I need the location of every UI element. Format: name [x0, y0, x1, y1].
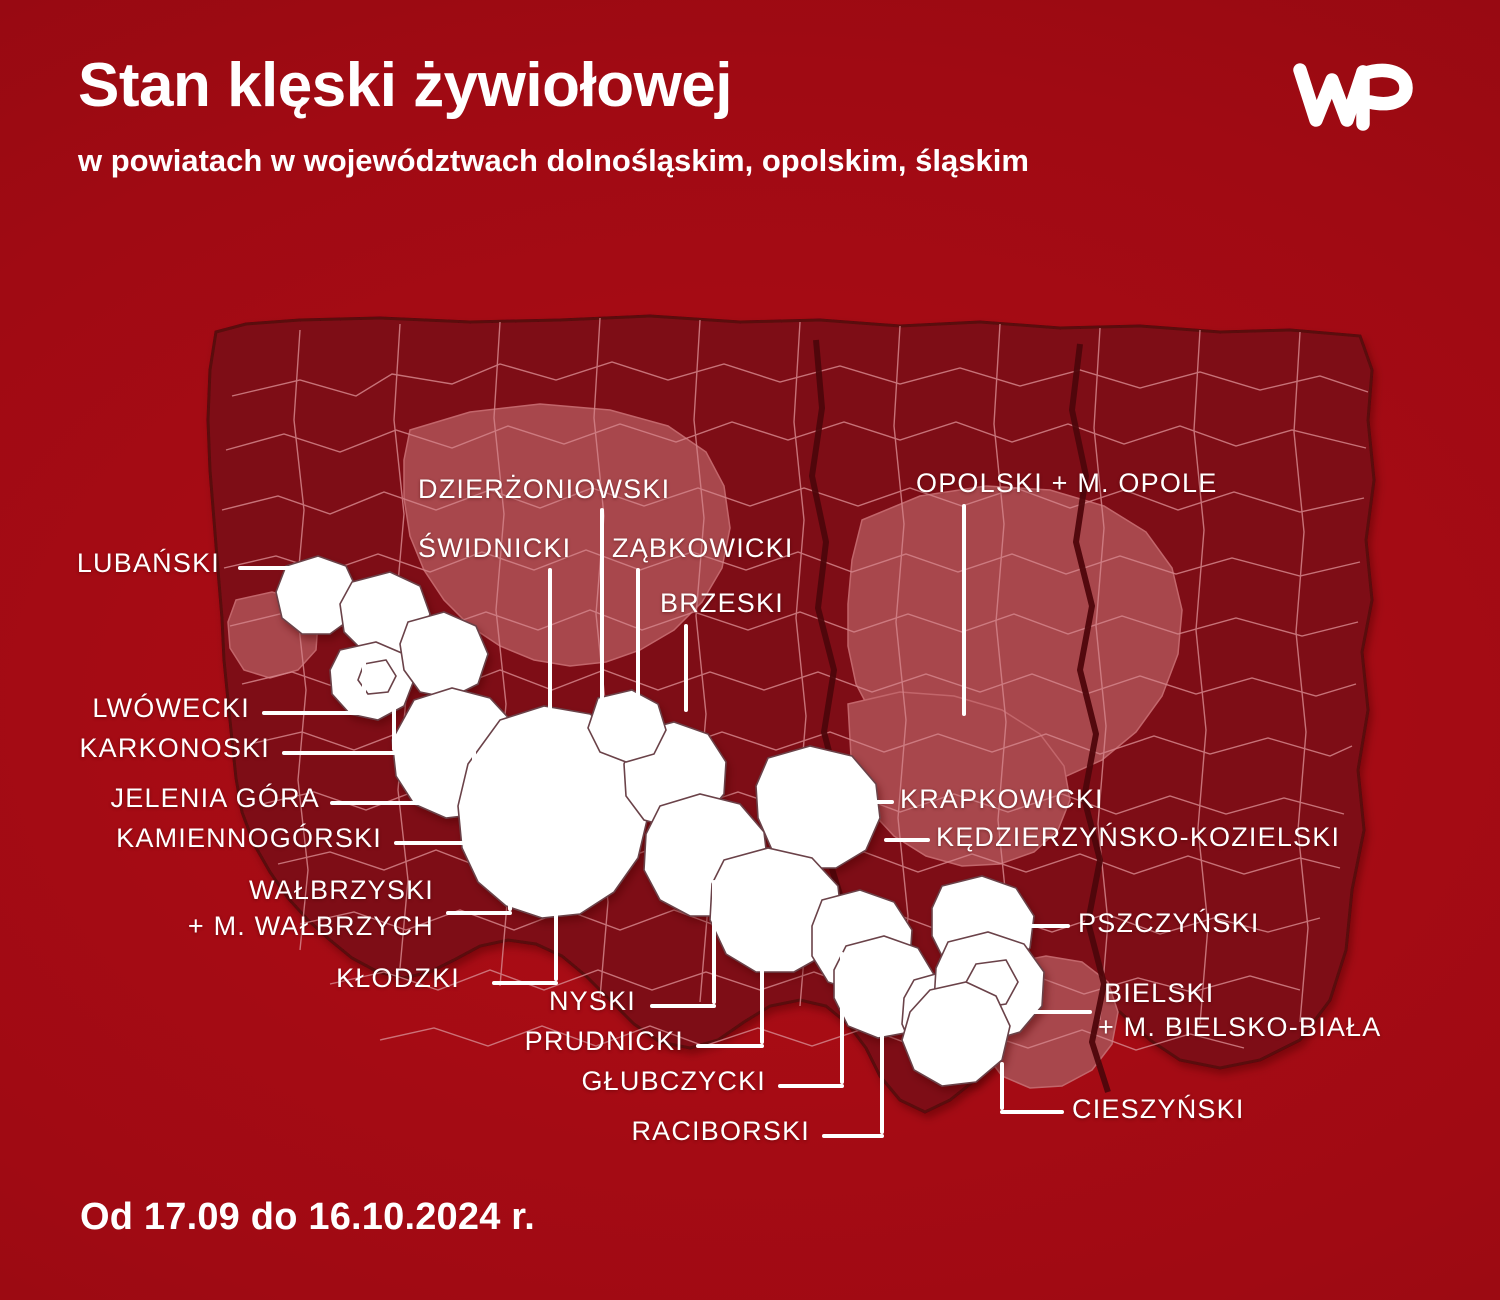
label-krapkowicki: KRAPKOWICKI — [900, 784, 1104, 815]
label-dzierzoniowski: DZIERŻONIOWSKI — [418, 474, 670, 505]
label-bielski-line2: + M. BIELSKO-BIAŁA — [1098, 1012, 1381, 1043]
leader-cieszynski-h — [1000, 1110, 1064, 1114]
leader-pszczynski-h — [1004, 924, 1070, 928]
leader-prudnicki-v — [760, 916, 764, 1044]
leader-jelenia-v — [438, 726, 442, 801]
leader-raciborski-h — [822, 1134, 884, 1138]
leader-cieszynski-v — [1000, 1062, 1004, 1110]
wp-logo — [1290, 58, 1414, 132]
leader-jelenia-h — [330, 801, 442, 805]
label-zabkowicki: ZĄBKOWICKI — [612, 533, 794, 564]
infographic-root: Stan klęski żywiołowej w powiatach w woj… — [0, 0, 1500, 1300]
label-kamiennogorski: KAMIENNOGÓRSKI — [20, 823, 382, 854]
label-opolski: OPOLSKI + M. OPOLE — [916, 468, 1217, 499]
leader-karkonoski-v — [392, 700, 396, 751]
leader-nyski-h — [650, 1004, 716, 1008]
leader-glubczycki-v — [840, 952, 844, 1084]
leader-lwowecki-v — [362, 648, 366, 711]
leader-nyski-v — [712, 880, 716, 1004]
leader-lwowecki-h — [262, 711, 366, 715]
leader-glubczycki-h — [778, 1084, 844, 1088]
date-range: Od 17.09 do 16.10.2024 r. — [80, 1196, 535, 1239]
label-prudnicki: PRUDNICKI — [20, 1026, 684, 1057]
label-brzeski: BRZESKI — [660, 588, 784, 619]
leader-prudnicki-h — [696, 1044, 764, 1048]
label-glubczycki: GŁUBCZYCKI — [20, 1066, 766, 1097]
label-lubanski: LUBAŃSKI — [20, 548, 220, 579]
label-karkonoski: KARKONOSKI — [20, 733, 270, 764]
label-cieszynski: CIESZYŃSKI — [1072, 1094, 1245, 1125]
leader-karkonoski-h — [282, 751, 396, 755]
label-jelenia-gora: JELENIA GÓRA — [20, 783, 320, 814]
leader-kedzierzynsko-h — [884, 838, 930, 842]
label-kedzierzynsko-kozielski: KĘDZIERZYŃSKO-KOZIELSKI — [936, 822, 1340, 853]
leader-krapkowicki-h — [846, 800, 894, 804]
leader-walbrzyski-v — [508, 806, 512, 911]
label-nyski: NYSKI — [20, 986, 636, 1017]
leader-brzeski-v — [684, 624, 688, 712]
leader-zabkowicki-v — [636, 568, 640, 726]
label-pszczynski: PSZCZYŃSKI — [1078, 908, 1260, 939]
leader-swidnicki-v — [548, 568, 552, 720]
leader-kamiennogorski-v — [472, 742, 476, 841]
label-raciborski: RACIBORSKI — [20, 1116, 810, 1147]
label-swidnicki: ŚWIDNICKI — [418, 533, 571, 564]
leader-raciborski-v — [880, 1012, 884, 1134]
label-lwowecki: LWÓWECKI — [20, 693, 250, 724]
header: Stan klęski żywiołowej w powiatach w woj… — [78, 54, 1258, 181]
leader-klodzki-v — [554, 852, 558, 981]
leader-klodzki-h — [492, 981, 558, 985]
label-walbrzyski-line1: WAŁBRZYSKI — [20, 875, 434, 906]
leader-walbrzyski-h — [446, 911, 512, 915]
leader-lubanski-v — [334, 566, 338, 600]
leader-bielski-h — [1014, 1010, 1092, 1014]
leader-lubanski-h — [238, 566, 338, 570]
leader-dzierzoniowski-v — [600, 508, 604, 704]
label-walbrzyski-line2: + M. WAŁBRZYCH — [20, 911, 434, 942]
page-subtitle: w powiatach w województwach dolnośląskim… — [78, 141, 1108, 181]
leader-opolski-v — [962, 504, 966, 716]
leader-kamiennogorski-h — [394, 841, 476, 845]
page-title: Stan klęski żywiołowej — [78, 54, 1258, 117]
label-bielski-line1: BIELSKI — [1104, 978, 1214, 1009]
